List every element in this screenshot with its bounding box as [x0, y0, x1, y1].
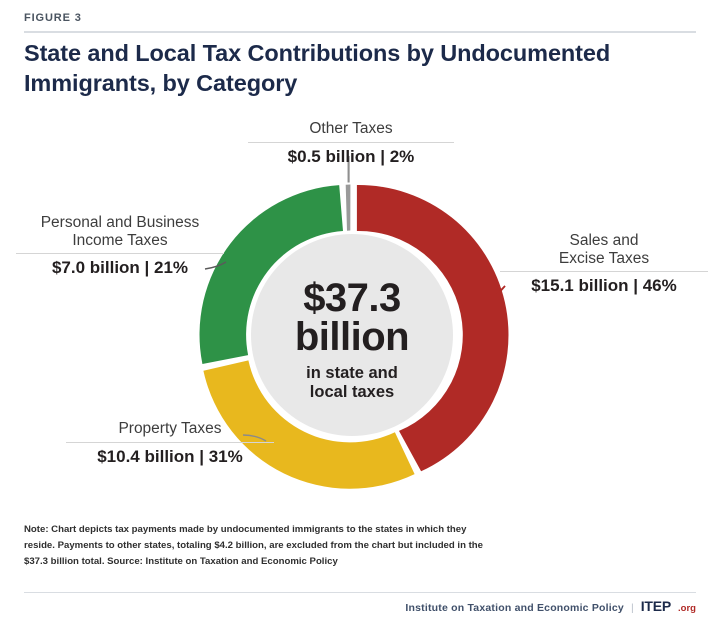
callout-sales-and-excise-taxes: Sales and Excise Taxes $15.1 billion | 4… — [500, 232, 708, 296]
callout-personal-and-business-income-taxes: Personal and Business Income Taxes $7.0 … — [16, 214, 224, 278]
slice-other-taxes[interactable] — [346, 185, 351, 231]
callout-income-value: $7.0 billion | 21% — [16, 258, 224, 278]
callout-property-taxes: Property Taxes $10.4 billion | 31% — [66, 420, 274, 467]
figure-number: FIGURE 3 — [24, 12, 82, 24]
donut-center-disc — [251, 234, 453, 436]
callout-property-taxes-category: Property Taxes — [66, 420, 274, 438]
itep-logo-mark[interactable]: ITEP — [641, 598, 671, 614]
footer-credit: Institute on Taxation and Economic Polic… — [405, 598, 696, 614]
chart-footnote: Note: Chart depicts tax payments made by… — [24, 522, 494, 570]
header-divider — [24, 31, 696, 33]
callout-property-taxes-divider — [66, 442, 274, 443]
callout-property-taxes-value: $10.4 billion | 31% — [66, 447, 274, 467]
callout-income-divider — [16, 253, 224, 254]
callout-income-category-line-1: Personal and Business — [16, 214, 224, 232]
footer-organization: Institute on Taxation and Economic Polic… — [405, 602, 624, 614]
donut-chart: $37.3 billion in state and local taxes O… — [0, 104, 720, 508]
callout-other-taxes-category: Other Taxes — [248, 120, 454, 138]
callout-other-taxes-divider — [248, 142, 454, 143]
footer-separator: | — [631, 602, 634, 614]
footer-divider — [24, 592, 696, 593]
callout-sales-category-line-2: Excise Taxes — [500, 250, 708, 268]
figure-container: FIGURE 3 State and Local Tax Contributio… — [0, 0, 720, 624]
itep-logo-tld[interactable]: .org — [678, 603, 696, 614]
callout-other-taxes-value: $0.5 billion | 2% — [248, 147, 454, 167]
callout-sales-category-line-1: Sales and — [500, 232, 708, 250]
callout-sales-divider — [500, 271, 708, 272]
callout-sales-value: $15.1 billion | 46% — [500, 276, 708, 296]
page-title: State and Local Tax Contributions by Und… — [24, 39, 624, 98]
callout-income-category-line-2: Income Taxes — [16, 232, 224, 250]
callout-other-taxes: Other Taxes $0.5 billion | 2% — [248, 120, 454, 167]
